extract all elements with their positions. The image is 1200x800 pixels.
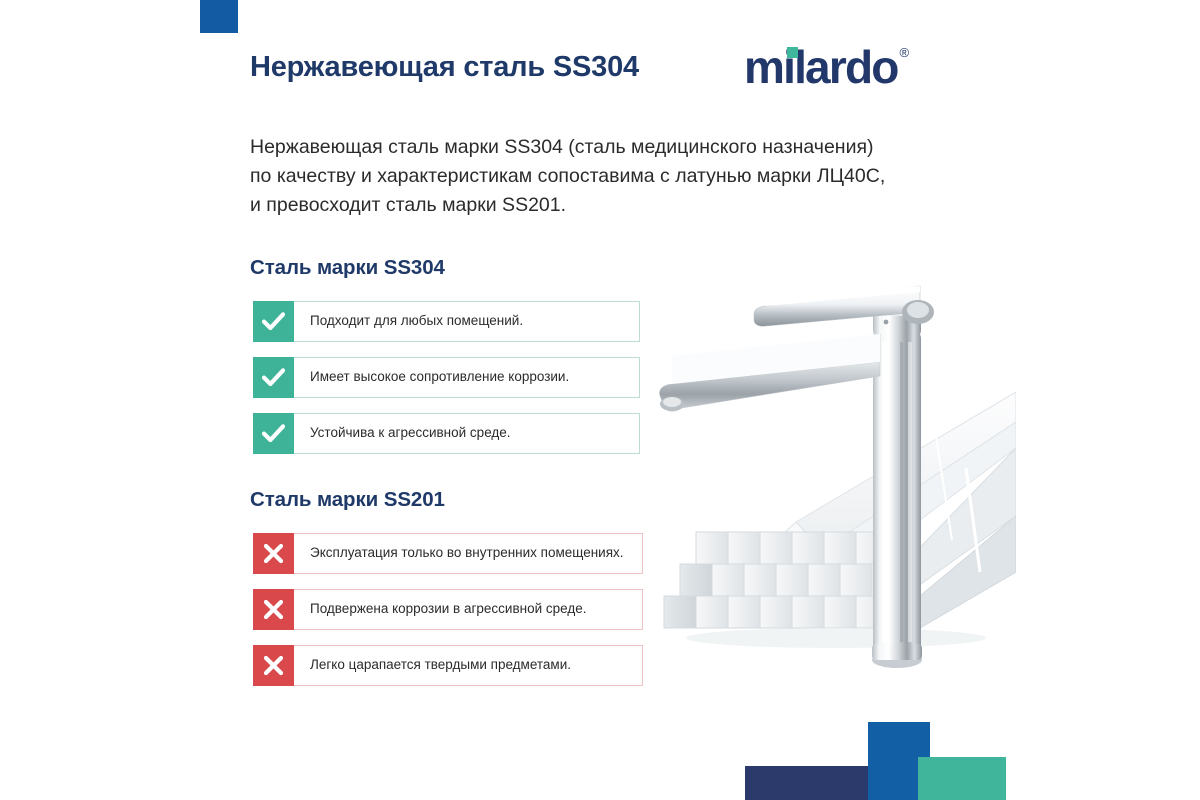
registered-trademark-icon: ® [900,46,910,59]
check-icon [253,301,294,342]
list-item-label: Эксплуатация только во внутренних помеще… [294,534,624,573]
intro-line-1: Нержавеющая сталь марки SS304 (сталь мед… [250,133,960,162]
cross-icon [253,589,294,630]
infographic-canvas: Нержавеющая сталь SS304 milardo ® Нержав… [0,0,1200,800]
check-icon [253,357,294,398]
decoration-square-top-left [200,0,238,33]
section-heading-ss201: Сталь марки SS201 [250,488,445,512]
product-image-faucet-and-steel-bars [636,272,1016,682]
list-item-label: Имеет высокое сопротивление коррозии. [294,358,569,397]
intro-line-3: и превосходит сталь марки SS201. [250,191,960,220]
cross-icon [253,645,294,686]
brand-logo: milardo ® [744,44,909,90]
list-item: Подвержена коррозии в агрессивной среде. [253,589,643,630]
check-icon [253,413,294,454]
list-item: Подходит для любых помещений. [253,301,640,342]
list-item-label: Подходит для любых помещений. [294,302,523,341]
list-item: Устойчива к агрессивной среде. [253,413,640,454]
list-item: Легко царапается твердыми предметами. [253,645,643,686]
decoration-square-bottom-teal [918,757,1006,800]
section-heading-ss304: Сталь марки SS304 [250,256,445,280]
page-title: Нержавеющая сталь SS304 [250,51,639,84]
list-item-label: Легко царапается твердыми предметами. [294,646,571,685]
steel-bars-stack [664,392,1016,648]
cross-icon [253,533,294,574]
intro-paragraph: Нержавеющая сталь марки SS304 (сталь мед… [250,133,960,220]
list-item: Эксплуатация только во внутренних помеще… [253,533,643,574]
intro-line-2: по качеству и характеристикам сопоставим… [250,162,960,191]
brand-logo-wordmark: milardo [744,44,898,90]
feature-list-ss304: Подходит для любых помещений. Имеет высо… [253,301,640,454]
logo-accent-dot-icon [787,47,798,58]
feature-list-ss201: Эксплуатация только во внутренних помеще… [253,533,643,686]
list-item-label: Устойчива к агрессивной среде. [294,414,511,453]
list-item-label: Подвержена коррозии в агрессивной среде. [294,590,587,629]
list-item: Имеет высокое сопротивление коррозии. [253,357,640,398]
